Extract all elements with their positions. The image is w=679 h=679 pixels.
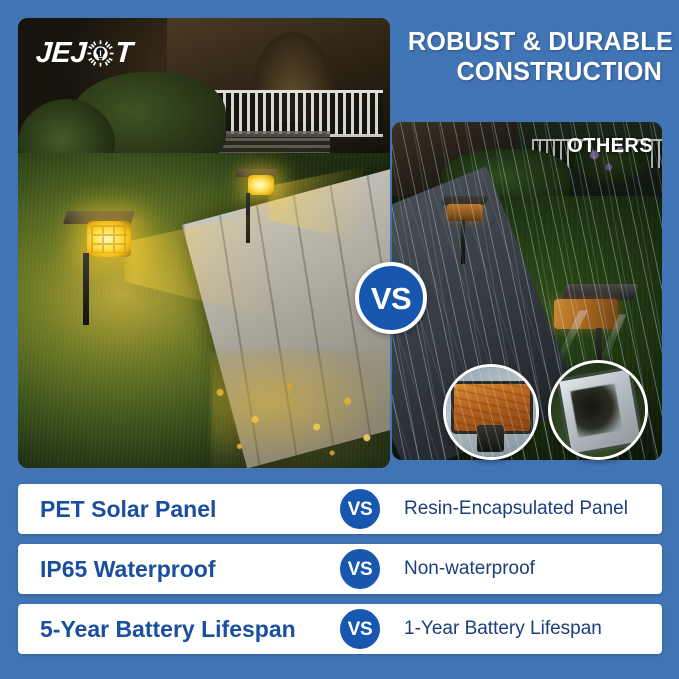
inset-cracked-panel	[548, 360, 648, 460]
vs-badge-row-1: VS	[337, 486, 383, 532]
vs-badge-label: VS	[348, 620, 373, 639]
row-2-jejot-feature: IP65 Waterproof	[18, 556, 360, 583]
others-lamp-background	[443, 196, 499, 266]
brand-logo: JEJ	[36, 38, 132, 68]
solar-panel	[562, 284, 639, 300]
comparison-row-1: PET Solar Panel VS Resin-Encapsulated Pa…	[18, 484, 662, 534]
solar-lamp-foreground	[63, 207, 149, 327]
headline: ROBUST & DURABLE CONSTRUCTION	[400, 26, 662, 86]
row-3-others-feature: 1-Year Battery Lifespan	[360, 618, 662, 640]
comparison-row-2: IP65 Waterproof VS Non-waterproof	[18, 544, 662, 594]
logo-text-right: T	[114, 39, 133, 68]
comparison-rows: PET Solar Panel VS Resin-Encapsulated Pa…	[18, 484, 662, 664]
lamp-head-corroded	[554, 299, 618, 329]
headline-line-1: ROBUST & DURABLE	[408, 26, 662, 56]
vs-badge-row-2: VS	[337, 546, 383, 592]
headline-line-2: CONSTRUCTION	[408, 56, 662, 86]
sunburst-bulb-icon	[87, 40, 114, 67]
others-label: OTHERS	[567, 135, 653, 158]
logo-text-left: JEJ	[35, 39, 87, 68]
row-2-others-feature: Non-waterproof	[360, 558, 662, 580]
vs-badge-main: VS	[355, 262, 427, 334]
photo-fallen-petals	[197, 360, 390, 468]
ground-stake	[461, 220, 465, 264]
infographic-page: JEJ	[0, 0, 679, 679]
row-1-others-feature: Resin-Encapsulated Panel	[360, 498, 662, 520]
vs-badge-label: VS	[348, 500, 373, 519]
water-droplets	[446, 367, 536, 457]
vs-badge-label: VS	[348, 560, 373, 579]
lamp-head	[248, 175, 274, 195]
inset-corroded-panel	[443, 364, 539, 460]
vs-badge-label: VS	[371, 283, 411, 314]
panel-damage	[570, 384, 623, 438]
vs-badge-row-3: VS	[337, 606, 383, 652]
row-1-jejot-feature: PET Solar Panel	[18, 496, 360, 523]
ground-stake	[83, 253, 89, 325]
comparison-row-3: 5-Year Battery Lifespan VS 1-Year Batter…	[18, 604, 662, 654]
product-photo-jejot	[18, 18, 390, 468]
row-3-jejot-feature: 5-Year Battery Lifespan	[18, 616, 360, 643]
lamp-head-corroded	[447, 204, 483, 221]
led-grid	[91, 225, 127, 253]
